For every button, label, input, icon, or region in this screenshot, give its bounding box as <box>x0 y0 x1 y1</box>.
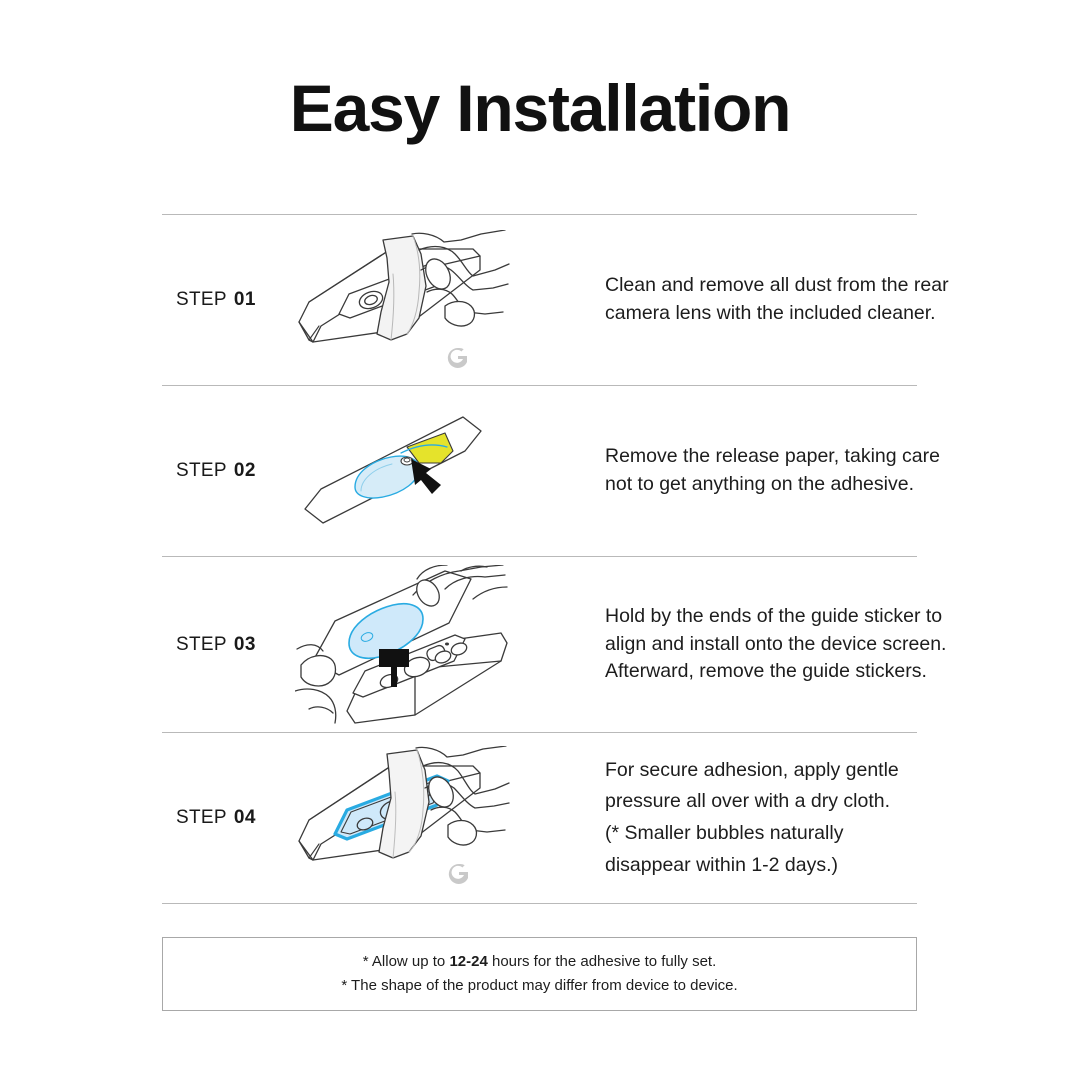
step-text-02: Remove the release paper, taking care no… <box>517 443 940 498</box>
step-text-line: camera lens with the included cleaner. <box>605 300 949 328</box>
step-text-01: Clean and remove all dust from the rear … <box>517 272 949 327</box>
step-text-line: pressure all over with a dry cloth. <box>605 786 917 818</box>
step-word: STEP <box>176 807 227 828</box>
step-text-line: not to get anything on the adhesive. <box>605 471 940 499</box>
page-title: Easy Installation <box>0 72 1080 145</box>
footer-note-hours: 12-24 <box>449 953 487 970</box>
footer-note-prefix: * Allow up to <box>363 953 450 970</box>
step-word: STEP <box>176 460 227 481</box>
step-illustration-04 <box>287 746 517 891</box>
step-text-line: Hold by the ends of the guide sticker to <box>605 603 946 631</box>
step-number: 02 <box>234 460 256 481</box>
step-text-03: Hold by the ends of the guide sticker to… <box>517 603 946 686</box>
brand-g-logo <box>447 348 466 368</box>
step-number: 01 <box>234 289 256 310</box>
step-text-line: For secure adhesion, apply gentle <box>605 755 917 787</box>
step-illustration-01 <box>287 230 517 370</box>
step-text-line: (* Smaller bubbles naturally <box>605 818 917 850</box>
step-text-line: disappear within 1-2 days.) <box>605 850 917 882</box>
step-number: 03 <box>234 634 256 655</box>
step-row: STEP04 <box>162 733 917 903</box>
footer-note-line-1: * Allow up to 12-24 hours for the adhesi… <box>363 950 717 974</box>
footer-note-box: * Allow up to 12-24 hours for the adhesi… <box>162 937 917 1011</box>
step-label-02: STEP02 <box>162 460 287 482</box>
footer-note-suffix: hours for the adhesive to fully set. <box>488 953 716 970</box>
step-text-04: For secure adhesion, apply gentle pressu… <box>517 755 917 881</box>
step-word: STEP <box>176 289 227 310</box>
easy-installation-instruction-sheet: Easy Installation STEP01 <box>0 0 1080 1080</box>
divider-bottom <box>162 903 917 904</box>
step-illustration-03 <box>287 565 517 725</box>
steps-list: STEP01 <box>162 214 917 904</box>
step-word: STEP <box>176 634 227 655</box>
step-label-01: STEP01 <box>162 289 287 311</box>
step-text-line: Afterward, remove the guide stickers. <box>605 658 946 686</box>
step-row: STEP01 <box>162 215 917 385</box>
step-row: STEP03 <box>162 557 917 732</box>
step-illustration-02 <box>287 411 517 531</box>
step-text-line: Clean and remove all dust from the rear <box>605 272 949 300</box>
step-text-line: align and install onto the device screen… <box>605 631 946 659</box>
footer-note-line-2: * The shape of the product may differ fr… <box>341 974 737 998</box>
brand-g-logo <box>448 863 467 883</box>
step-label-03: STEP03 <box>162 634 287 656</box>
step-label-04: STEP04 <box>162 807 287 829</box>
step-row: STEP02 <box>162 386 917 556</box>
step-text-line: Remove the release paper, taking care <box>605 443 940 471</box>
step-number: 04 <box>234 807 256 828</box>
